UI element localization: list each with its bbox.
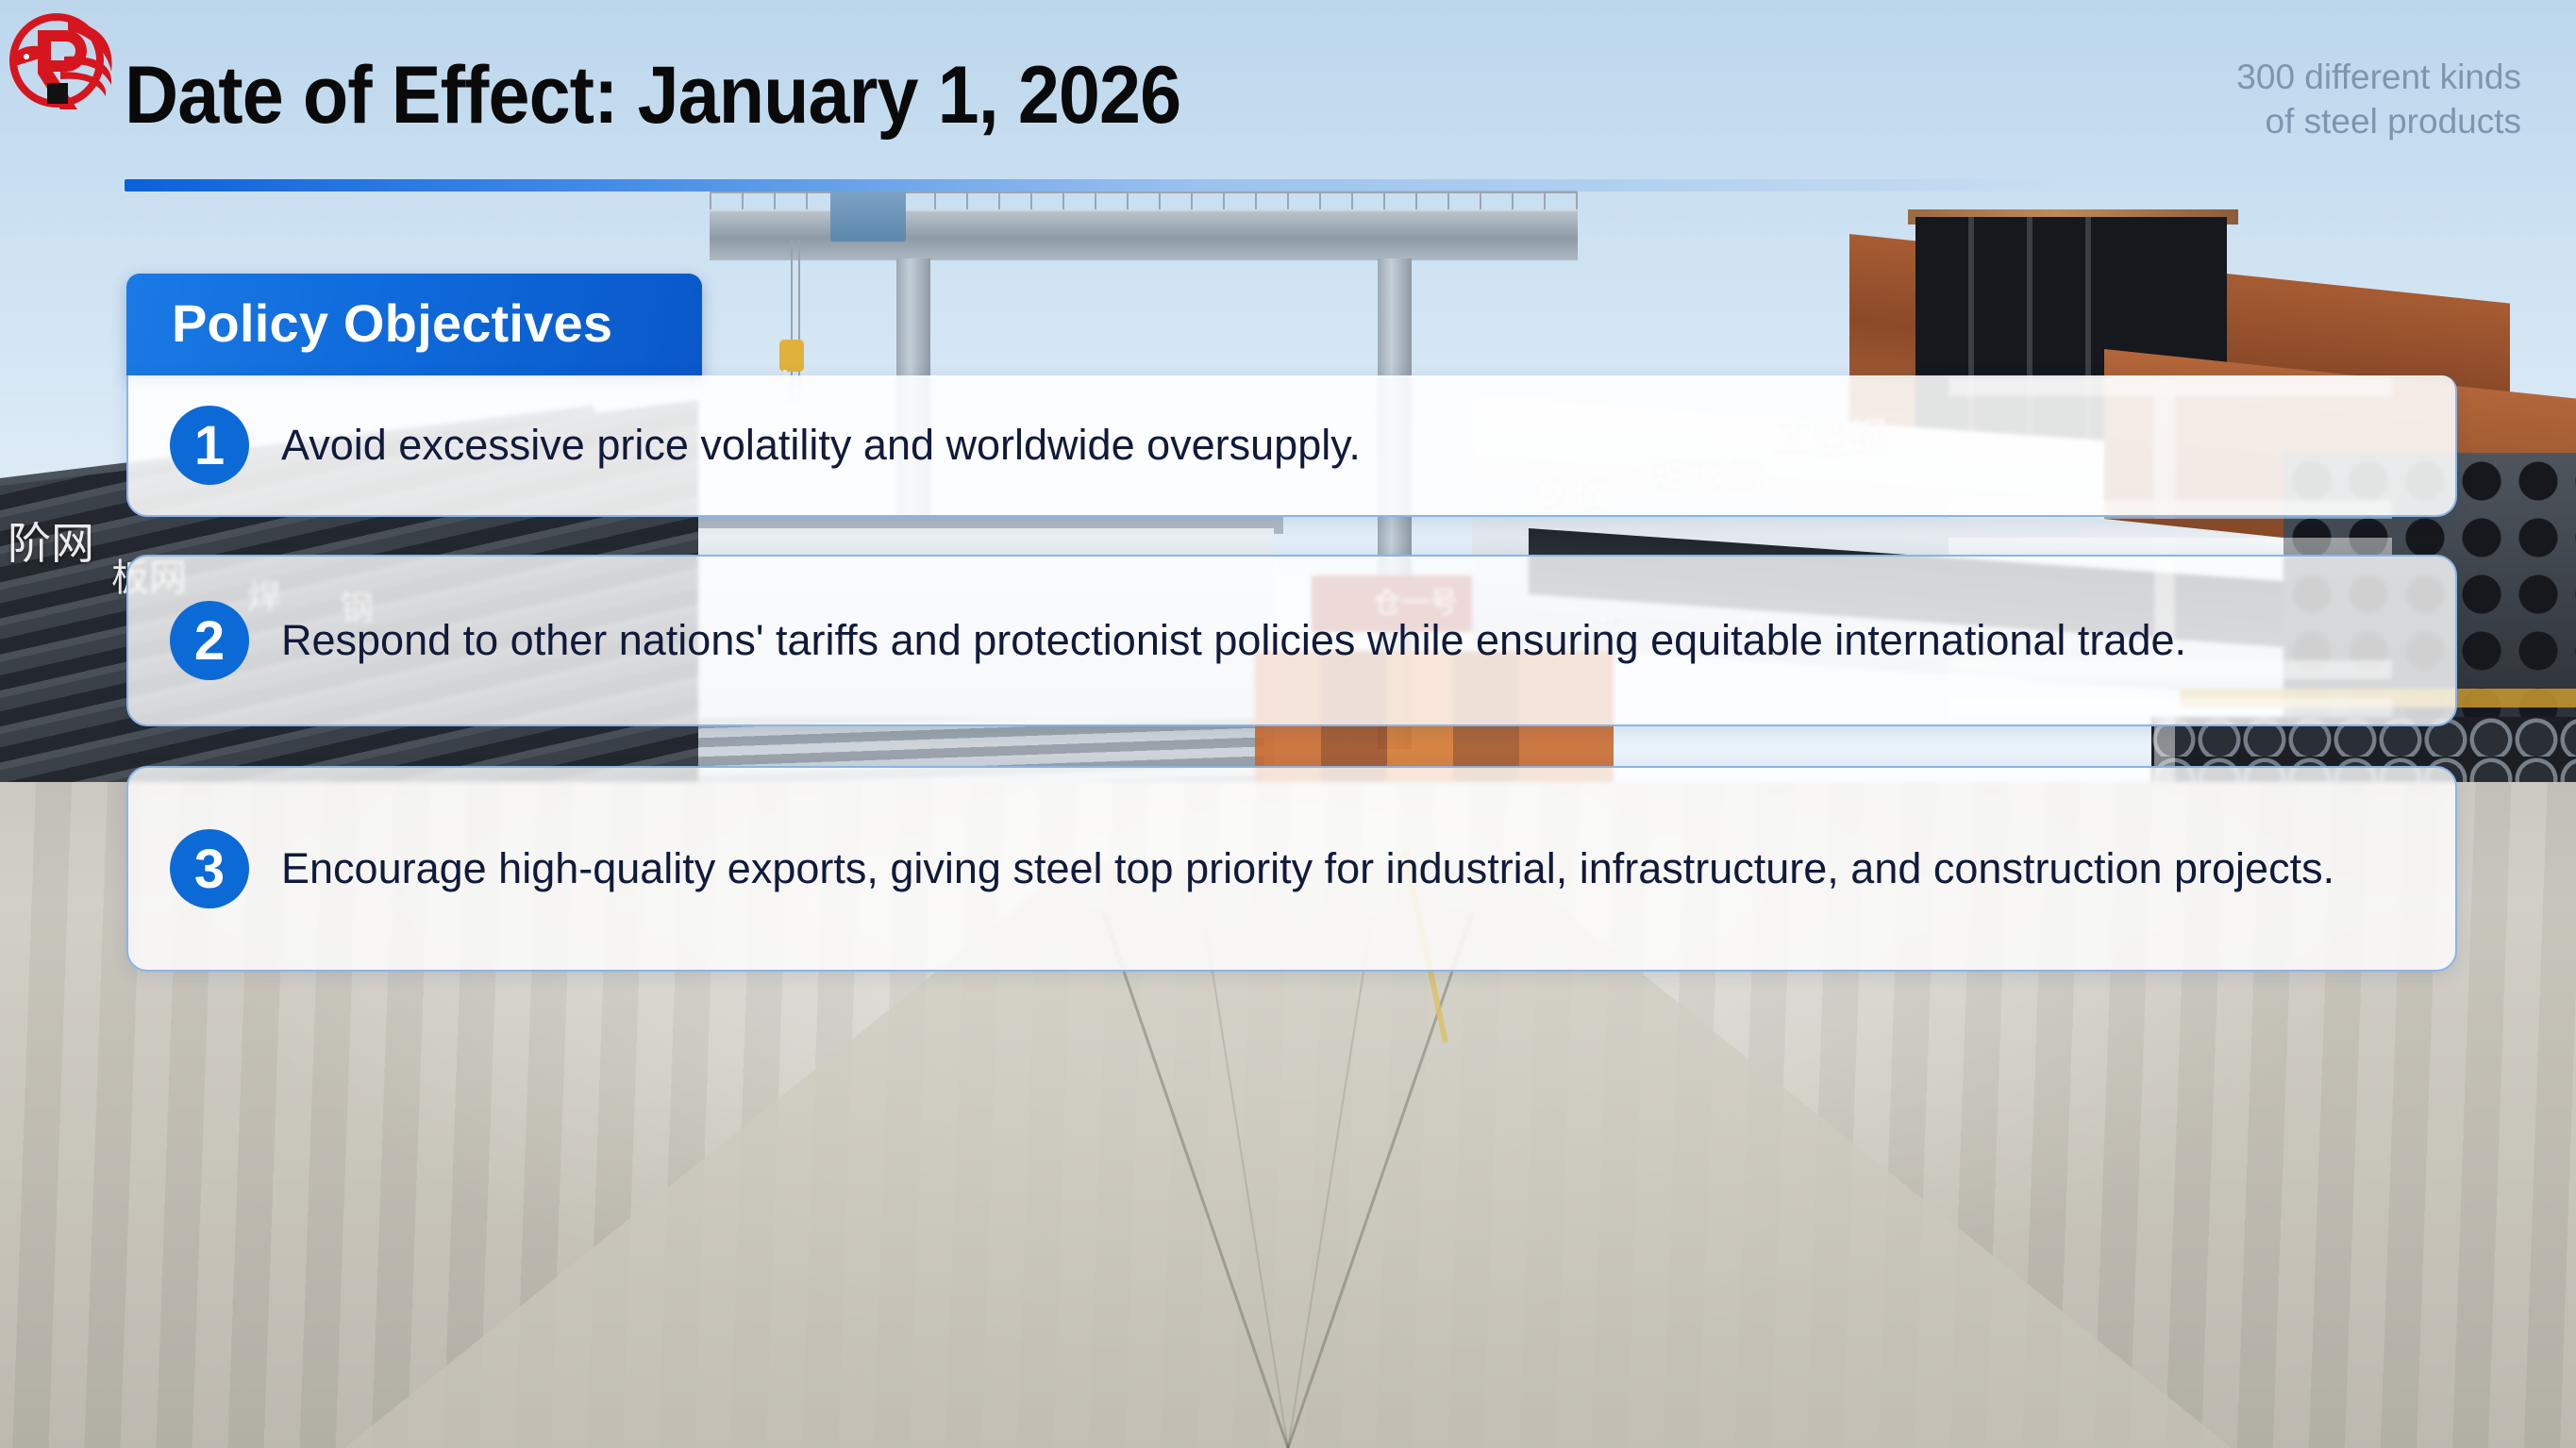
page-title: Date of Effect: January 1, 2026 [125, 49, 1180, 142]
steel-products-kicker: 300 different kinds of steel products [2125, 55, 2521, 144]
objective-card-3[interactable]: 3 Encourage high-quality exports, giving… [126, 766, 2457, 972]
objective-number-badge-3: 3 [170, 829, 249, 908]
title-underline-rule [125, 179, 2087, 191]
objective-card-2[interactable]: 2 Respond to other nations' tariffs and … [126, 555, 2457, 726]
kicker-line-1: 300 different kinds [2125, 55, 2521, 99]
objective-number-badge-1: 1 [170, 406, 249, 485]
rising-phoenix-r-logo-icon [2, 2, 125, 125]
slide-content-overlay: Date of Effect: January 1, 2026 300 diff… [0, 0, 2576, 1448]
objective-text-3: Encourage high-quality exports, giving s… [281, 841, 2334, 897]
policy-objectives-heading-label: Policy Objectives [126, 274, 702, 354]
objective-text-1: Avoid excessive price volatility and wor… [281, 417, 1361, 474]
objective-number-badge-2: 2 [170, 601, 249, 680]
objective-card-1[interactable]: 1 Avoid excessive price volatility and w… [126, 375, 2457, 517]
kicker-line-2: of steel products [2125, 99, 2521, 143]
objective-text-2: Respond to other nations' tariffs and pr… [281, 612, 2186, 669]
policy-objectives-header: Policy Objectives [126, 274, 702, 377]
slide-canvas: 仓一号 阶网 板网 焊 钢 钢板 矩形钢 工型钢 规 卷 [0, 0, 2576, 1448]
